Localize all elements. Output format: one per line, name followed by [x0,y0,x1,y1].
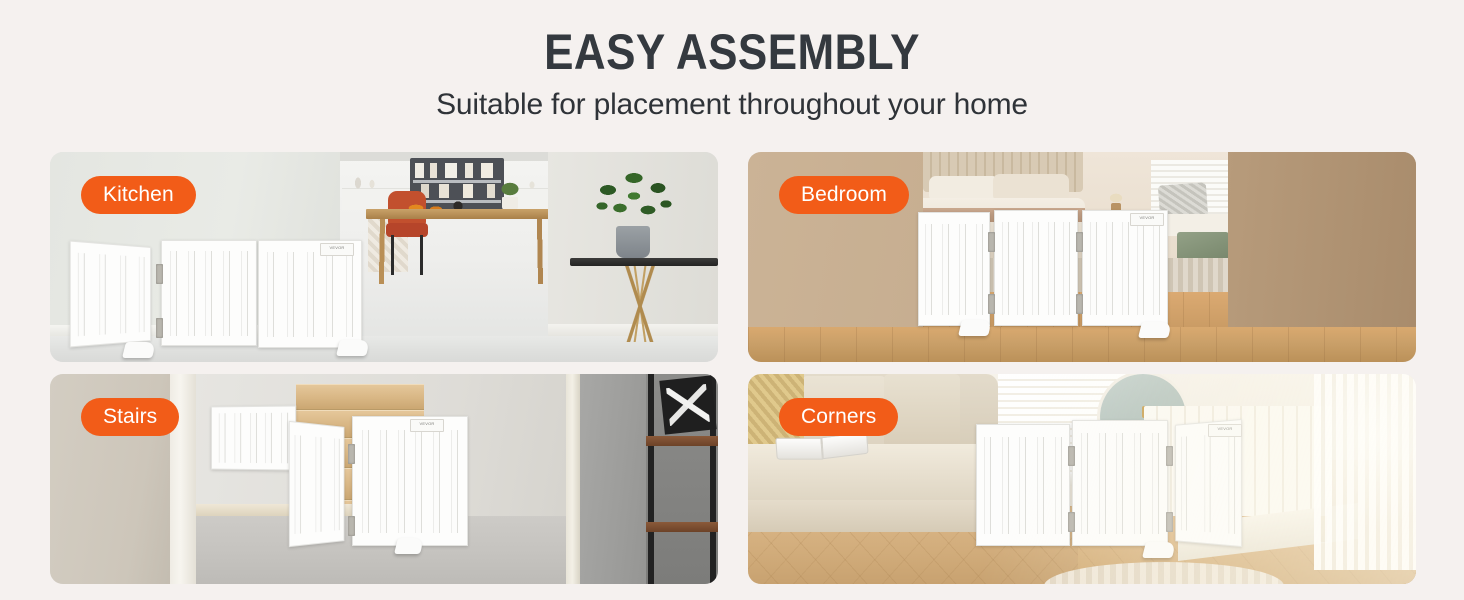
gate-support-foot [1138,322,1172,338]
shelf-book [659,375,716,434]
pet-gate-corners: VEVOR [976,420,1266,548]
gate-slats [1181,433,1235,534]
gate-panel [352,416,468,546]
gate-hinge-icon [348,444,355,464]
gate-panel [289,421,345,547]
gate-panel [258,240,362,348]
shelf-board [646,436,718,446]
pet-gate-kitchen: VEVOR [68,240,398,348]
gate-slats [1081,433,1160,533]
gate-slats [984,437,1061,534]
gate-hinge-icon [1076,232,1083,252]
gate-panel [161,240,257,346]
gate-panel [994,210,1078,326]
page-subtitle: Suitable for placement throughout your h… [0,88,1464,123]
scenario-panel-stairs[interactable]: VEVOR Stairs [50,374,718,584]
gate-slats [294,435,339,535]
gate-panel [1082,210,1168,326]
gate-hinge-icon [348,516,355,536]
stairs-shelving-unit [646,374,718,584]
kitchen-console-table [570,258,718,266]
gate-slats [1090,222,1161,314]
stairs-door-edge [566,374,580,584]
vevor-brand-label: VEVOR [410,419,444,432]
corners-window-light [1288,374,1416,584]
stairs-right-wall [574,374,652,584]
kitchen-shelf-items-top [415,163,499,178]
gate-slats [1002,222,1071,314]
gate-support-foot [958,320,992,336]
gate-slats [218,413,288,464]
usage-scenario-grid: VEVOR Kitchen [50,152,1416,584]
kitchen-plant-leaves [588,168,680,230]
gate-hinge-icon [1076,294,1083,314]
gate-panel [976,424,1070,546]
shelf-board [646,522,718,532]
gate-hinge-icon [1166,512,1173,532]
badge-kitchen[interactable]: Kitchen [81,176,196,214]
gate-panel [1175,419,1242,547]
gate-slats [267,252,353,338]
book-page-left [775,438,823,460]
pet-gate-stairs-rear-panel [210,406,296,492]
gate-hinge-icon [988,294,995,314]
gate-hinge-icon [1166,446,1173,466]
kitchen-plant-pot [616,226,650,258]
corners-sofa-seat-front [748,500,1000,532]
bedroom-right-wall [1228,152,1416,327]
gate-slats [170,251,249,335]
scenario-panel-bedroom[interactable]: VEVOR Bedroom [748,152,1416,362]
vevor-brand-label: VEVOR [1130,213,1164,226]
gate-hinge-icon [988,232,995,252]
gate-slats [78,253,145,337]
gate-hinge-icon [156,318,163,338]
gate-hinge-icon [1068,512,1075,532]
gate-support-foot [336,340,370,356]
scenario-panel-corners[interactable]: VEVOR Corners [748,374,1416,584]
kitchen-hairpin-legs [580,266,700,342]
badge-bedroom[interactable]: Bedroom [779,176,909,214]
page-title: EASY ASSEMBLY [88,26,1376,79]
pet-gate-stairs: VEVOR [286,412,546,544]
gate-support-foot [1142,542,1176,558]
gate-panel [70,240,151,347]
vevor-brand-label: VEVOR [1208,424,1242,437]
gate-panel [1072,420,1168,546]
gate-panel [211,406,296,471]
shelf-post [648,374,654,584]
gate-slats [362,430,458,534]
badge-corners[interactable]: Corners [779,398,898,436]
vevor-brand-label: VEVOR [320,243,354,256]
stair-step [296,384,424,410]
kitchen-small-plant [494,180,526,210]
scenario-panel-kitchen[interactable]: VEVOR Kitchen [50,152,718,362]
badge-stairs[interactable]: Stairs [81,398,179,436]
gate-panel [918,212,990,326]
pet-gate-bedroom: VEVOR [918,210,1238,330]
gate-hinge-icon [156,264,163,284]
header: EASY ASSEMBLY Suitable for placement thr… [0,0,1464,122]
gate-support-foot [394,538,424,554]
kitchen-dining-table [366,209,566,219]
bedroom-floor [748,327,1416,362]
gate-hinge-icon [1068,446,1075,466]
gate-support-foot [122,342,156,358]
gate-slats [925,224,984,315]
